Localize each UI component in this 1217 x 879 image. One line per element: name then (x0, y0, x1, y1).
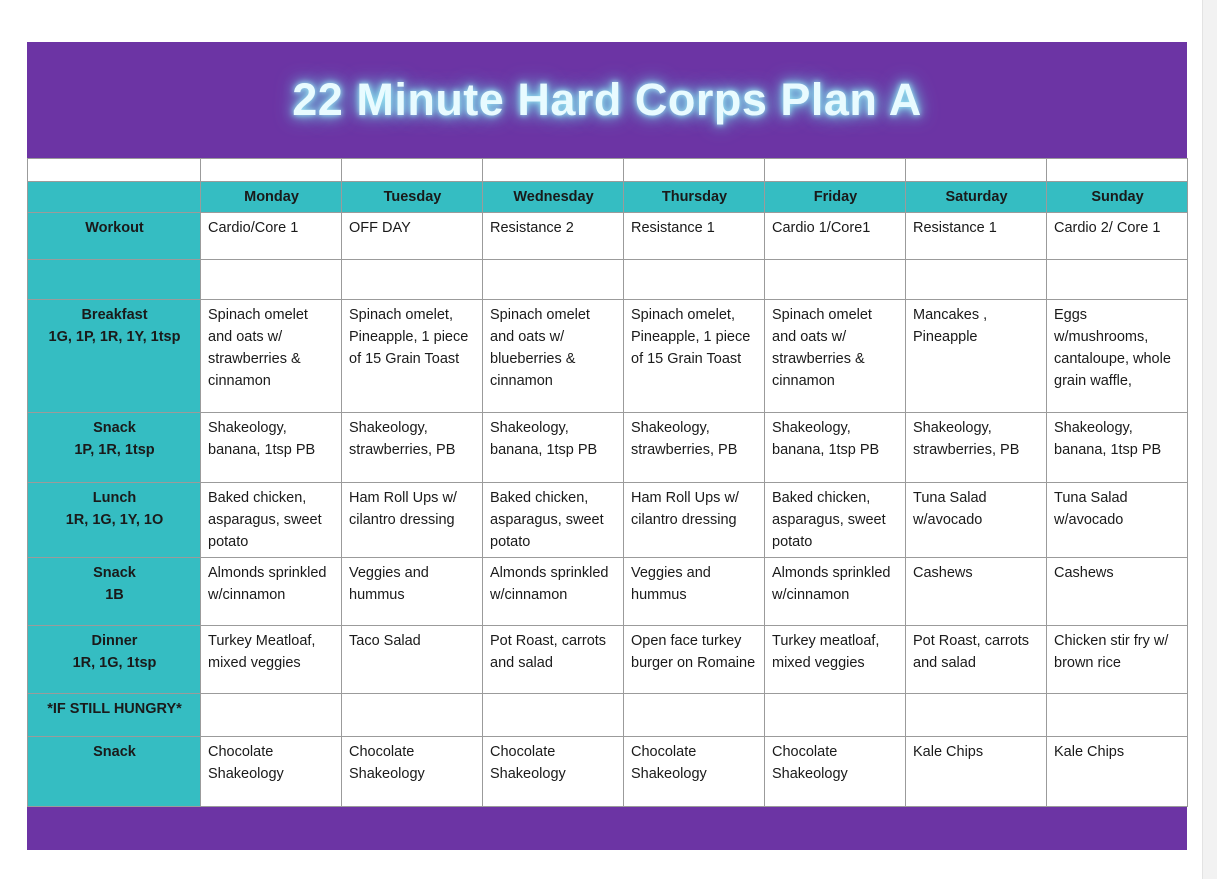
cell-workout-wednesday[interactable]: Resistance 2 (483, 213, 624, 260)
cell-dinner-wednesday[interactable]: Pot Roast, carrots and salad (483, 626, 624, 694)
cell-if-still-hungry-saturday[interactable] (906, 694, 1047, 737)
day-header-friday: Friday (765, 182, 906, 213)
cell-lunch-saturday[interactable]: Tuna Salad w/avocado (906, 483, 1047, 558)
cell-breakfast-sunday[interactable]: Eggs w/mushrooms, cantaloupe, whole grai… (1047, 300, 1188, 413)
cell-breakfast-monday[interactable]: Spinach omelet and oats w/ strawberries … (201, 300, 342, 413)
row-label-portions: 1R, 1G, 1tsp (35, 652, 194, 674)
row-label-snack-afternoon: Snack 1B (28, 558, 201, 626)
cell-workout-thursday[interactable]: Resistance 1 (624, 213, 765, 260)
table-row-spacer-top (28, 159, 1188, 182)
cell-blank-friday[interactable] (765, 260, 906, 300)
spacer-cell (906, 159, 1047, 182)
cell-blank-monday[interactable] (201, 260, 342, 300)
page-title: 22 Minute Hard Corps Plan A (292, 74, 921, 126)
spacer-cell (624, 159, 765, 182)
row-label-main: *IF STILL HUNGRY* (47, 701, 182, 717)
spacer-cell (201, 159, 342, 182)
cell-dinner-thursday[interactable]: Open face turkey burger on Romaine (624, 626, 765, 694)
spacer-cell (483, 159, 624, 182)
spacer-cell (342, 159, 483, 182)
cell-snack-afternoon-friday[interactable]: Almonds sprinkled w/cinnamon (765, 558, 906, 626)
cell-snack-morning-tuesday[interactable]: Shakeology, strawberries, PB (342, 413, 483, 483)
table-row-snack-evening: Snack Chocolate Shakeology Chocolate Sha… (28, 737, 1188, 807)
spacer-cell (1047, 159, 1188, 182)
row-label-main: Snack (93, 744, 136, 760)
cell-snack-afternoon-monday[interactable]: Almonds sprinkled w/cinnamon (201, 558, 342, 626)
cell-lunch-monday[interactable]: Baked chicken, asparagus, sweet potato (201, 483, 342, 558)
cell-snack-morning-saturday[interactable]: Shakeology, strawberries, PB (906, 413, 1047, 483)
day-header-tuesday: Tuesday (342, 182, 483, 213)
row-label-main: Snack (35, 417, 194, 439)
cell-snack-morning-friday[interactable]: Shakeology, banana, 1tsp PB (765, 413, 906, 483)
cell-lunch-thursday[interactable]: Ham Roll Ups w/ cilantro dressing (624, 483, 765, 558)
cell-snack-afternoon-saturday[interactable]: Cashews (906, 558, 1047, 626)
row-label-dinner: Dinner 1R, 1G, 1tsp (28, 626, 201, 694)
cell-snack-morning-thursday[interactable]: Shakeology, strawberries, PB (624, 413, 765, 483)
cell-workout-monday[interactable]: Cardio/Core 1 (201, 213, 342, 260)
cell-dinner-sunday[interactable]: Chicken stir fry w/ brown rice (1047, 626, 1188, 694)
cell-if-still-hungry-friday[interactable] (765, 694, 906, 737)
cell-if-still-hungry-sunday[interactable] (1047, 694, 1188, 737)
cell-lunch-wednesday[interactable]: Baked chicken, asparagus, sweet potato (483, 483, 624, 558)
row-label-if-still-hungry: *IF STILL HUNGRY* (28, 694, 201, 737)
cell-snack-afternoon-sunday[interactable]: Cashews (1047, 558, 1188, 626)
cell-dinner-tuesday[interactable]: Taco Salad (342, 626, 483, 694)
cell-lunch-tuesday[interactable]: Ham Roll Ups w/ cilantro dressing (342, 483, 483, 558)
title-banner: 22 Minute Hard Corps Plan A (27, 42, 1187, 158)
table-row-workout: Workout Cardio/Core 1 OFF DAY Resistance… (28, 213, 1188, 260)
cell-blank-sunday[interactable] (1047, 260, 1188, 300)
row-label-portions: 1R, 1G, 1Y, 1O (35, 509, 194, 531)
right-edge-scroll-strip[interactable] (1202, 0, 1217, 879)
cell-snack-afternoon-wednesday[interactable]: Almonds sprinkled w/cinnamon (483, 558, 624, 626)
row-label-portions: 1G, 1P, 1R, 1Y, 1tsp (35, 326, 194, 348)
cell-breakfast-tuesday[interactable]: Spinach omelet, Pineapple, 1 piece of 15… (342, 300, 483, 413)
row-label-main: Lunch (35, 487, 194, 509)
cell-snack-afternoon-thursday[interactable]: Veggies and hummus (624, 558, 765, 626)
cell-snack-evening-saturday[interactable]: Kale Chips (906, 737, 1047, 807)
cell-snack-evening-tuesday[interactable]: Chocolate Shakeology (342, 737, 483, 807)
cell-if-still-hungry-wednesday[interactable] (483, 694, 624, 737)
row-label-blank (28, 260, 201, 300)
cell-blank-wednesday[interactable] (483, 260, 624, 300)
cell-workout-tuesday[interactable]: OFF DAY (342, 213, 483, 260)
row-label-workout: Workout (28, 213, 201, 260)
cell-workout-saturday[interactable]: Resistance 1 (906, 213, 1047, 260)
cell-snack-morning-sunday[interactable]: Shakeology, banana, 1tsp PB (1047, 413, 1188, 483)
header-corner-cell (28, 182, 201, 213)
day-header-saturday: Saturday (906, 182, 1047, 213)
row-label-breakfast: Breakfast 1G, 1P, 1R, 1Y, 1tsp (28, 300, 201, 413)
table-row-spacer-after-workout (28, 260, 1188, 300)
row-label-main: Workout (85, 220, 144, 236)
cell-breakfast-thursday[interactable]: Spinach omelet, Pineapple, 1 piece of 15… (624, 300, 765, 413)
cell-if-still-hungry-monday[interactable] (201, 694, 342, 737)
cell-snack-evening-sunday[interactable]: Kale Chips (1047, 737, 1188, 807)
row-label-lunch: Lunch 1R, 1G, 1Y, 1O (28, 483, 201, 558)
meal-plan-sheet: 22 Minute Hard Corps Plan A (27, 42, 1187, 850)
spacer-cell (765, 159, 906, 182)
cell-snack-morning-wednesday[interactable]: Shakeology, banana, 1tsp PB (483, 413, 624, 483)
day-header-wednesday: Wednesday (483, 182, 624, 213)
cell-snack-evening-monday[interactable]: Chocolate Shakeology (201, 737, 342, 807)
cell-snack-evening-wednesday[interactable]: Chocolate Shakeology (483, 737, 624, 807)
table-row-snack-morning: Snack 1P, 1R, 1tsp Shakeology, banana, 1… (28, 413, 1188, 483)
row-label-portions: 1P, 1R, 1tsp (35, 439, 194, 461)
cell-snack-evening-friday[interactable]: Chocolate Shakeology (765, 737, 906, 807)
cell-snack-afternoon-tuesday[interactable]: Veggies and hummus (342, 558, 483, 626)
cell-snack-evening-thursday[interactable]: Chocolate Shakeology (624, 737, 765, 807)
weekly-meal-plan-table: Monday Tuesday Wednesday Thursday Friday… (27, 158, 1188, 807)
cell-breakfast-wednesday[interactable]: Spinach omelet and oats w/ blueberries &… (483, 300, 624, 413)
cell-lunch-sunday[interactable]: Tuna Salad w/avocado (1047, 483, 1188, 558)
row-label-portions: 1B (35, 584, 194, 606)
day-header-sunday: Sunday (1047, 182, 1188, 213)
cell-dinner-friday[interactable]: Turkey meatloaf, mixed veggies (765, 626, 906, 694)
table-row-snack-afternoon: Snack 1B Almonds sprinkled w/cinnamon Ve… (28, 558, 1188, 626)
row-label-main: Breakfast (35, 304, 194, 326)
day-header-monday: Monday (201, 182, 342, 213)
cell-if-still-hungry-tuesday[interactable] (342, 694, 483, 737)
row-label-main: Snack (35, 562, 194, 584)
cell-blank-tuesday[interactable] (342, 260, 483, 300)
cell-workout-friday[interactable]: Cardio 1/Core1 (765, 213, 906, 260)
spacer-cell (28, 159, 201, 182)
table-row-if-still-hungry: *IF STILL HUNGRY* (28, 694, 1188, 737)
table-row-dinner: Dinner 1R, 1G, 1tsp Turkey Meatloaf, mix… (28, 626, 1188, 694)
table-row-lunch: Lunch 1R, 1G, 1Y, 1O Baked chicken, aspa… (28, 483, 1188, 558)
cell-if-still-hungry-thursday[interactable] (624, 694, 765, 737)
row-label-snack-morning: Snack 1P, 1R, 1tsp (28, 413, 201, 483)
cell-workout-sunday[interactable]: Cardio 2/ Core 1 (1047, 213, 1188, 260)
row-label-main: Dinner (35, 630, 194, 652)
cell-blank-saturday[interactable] (906, 260, 1047, 300)
cell-breakfast-friday[interactable]: Spinach omelet and oats w/ strawberries … (765, 300, 906, 413)
table-header-row: Monday Tuesday Wednesday Thursday Friday… (28, 182, 1188, 213)
day-header-thursday: Thursday (624, 182, 765, 213)
footer-banner (27, 807, 1187, 850)
page-root: 22 Minute Hard Corps Plan A (0, 0, 1217, 879)
cell-breakfast-saturday[interactable]: Mancakes , Pineapple (906, 300, 1047, 413)
row-label-snack-evening: Snack (28, 737, 201, 807)
cell-lunch-friday[interactable]: Baked chicken, asparagus, sweet potato (765, 483, 906, 558)
table-row-breakfast: Breakfast 1G, 1P, 1R, 1Y, 1tsp Spinach o… (28, 300, 1188, 413)
cell-blank-thursday[interactable] (624, 260, 765, 300)
cell-snack-morning-monday[interactable]: Shakeology, banana, 1tsp PB (201, 413, 342, 483)
cell-dinner-monday[interactable]: Turkey Meatloaf, mixed veggies (201, 626, 342, 694)
cell-dinner-saturday[interactable]: Pot Roast, carrots and salad (906, 626, 1047, 694)
